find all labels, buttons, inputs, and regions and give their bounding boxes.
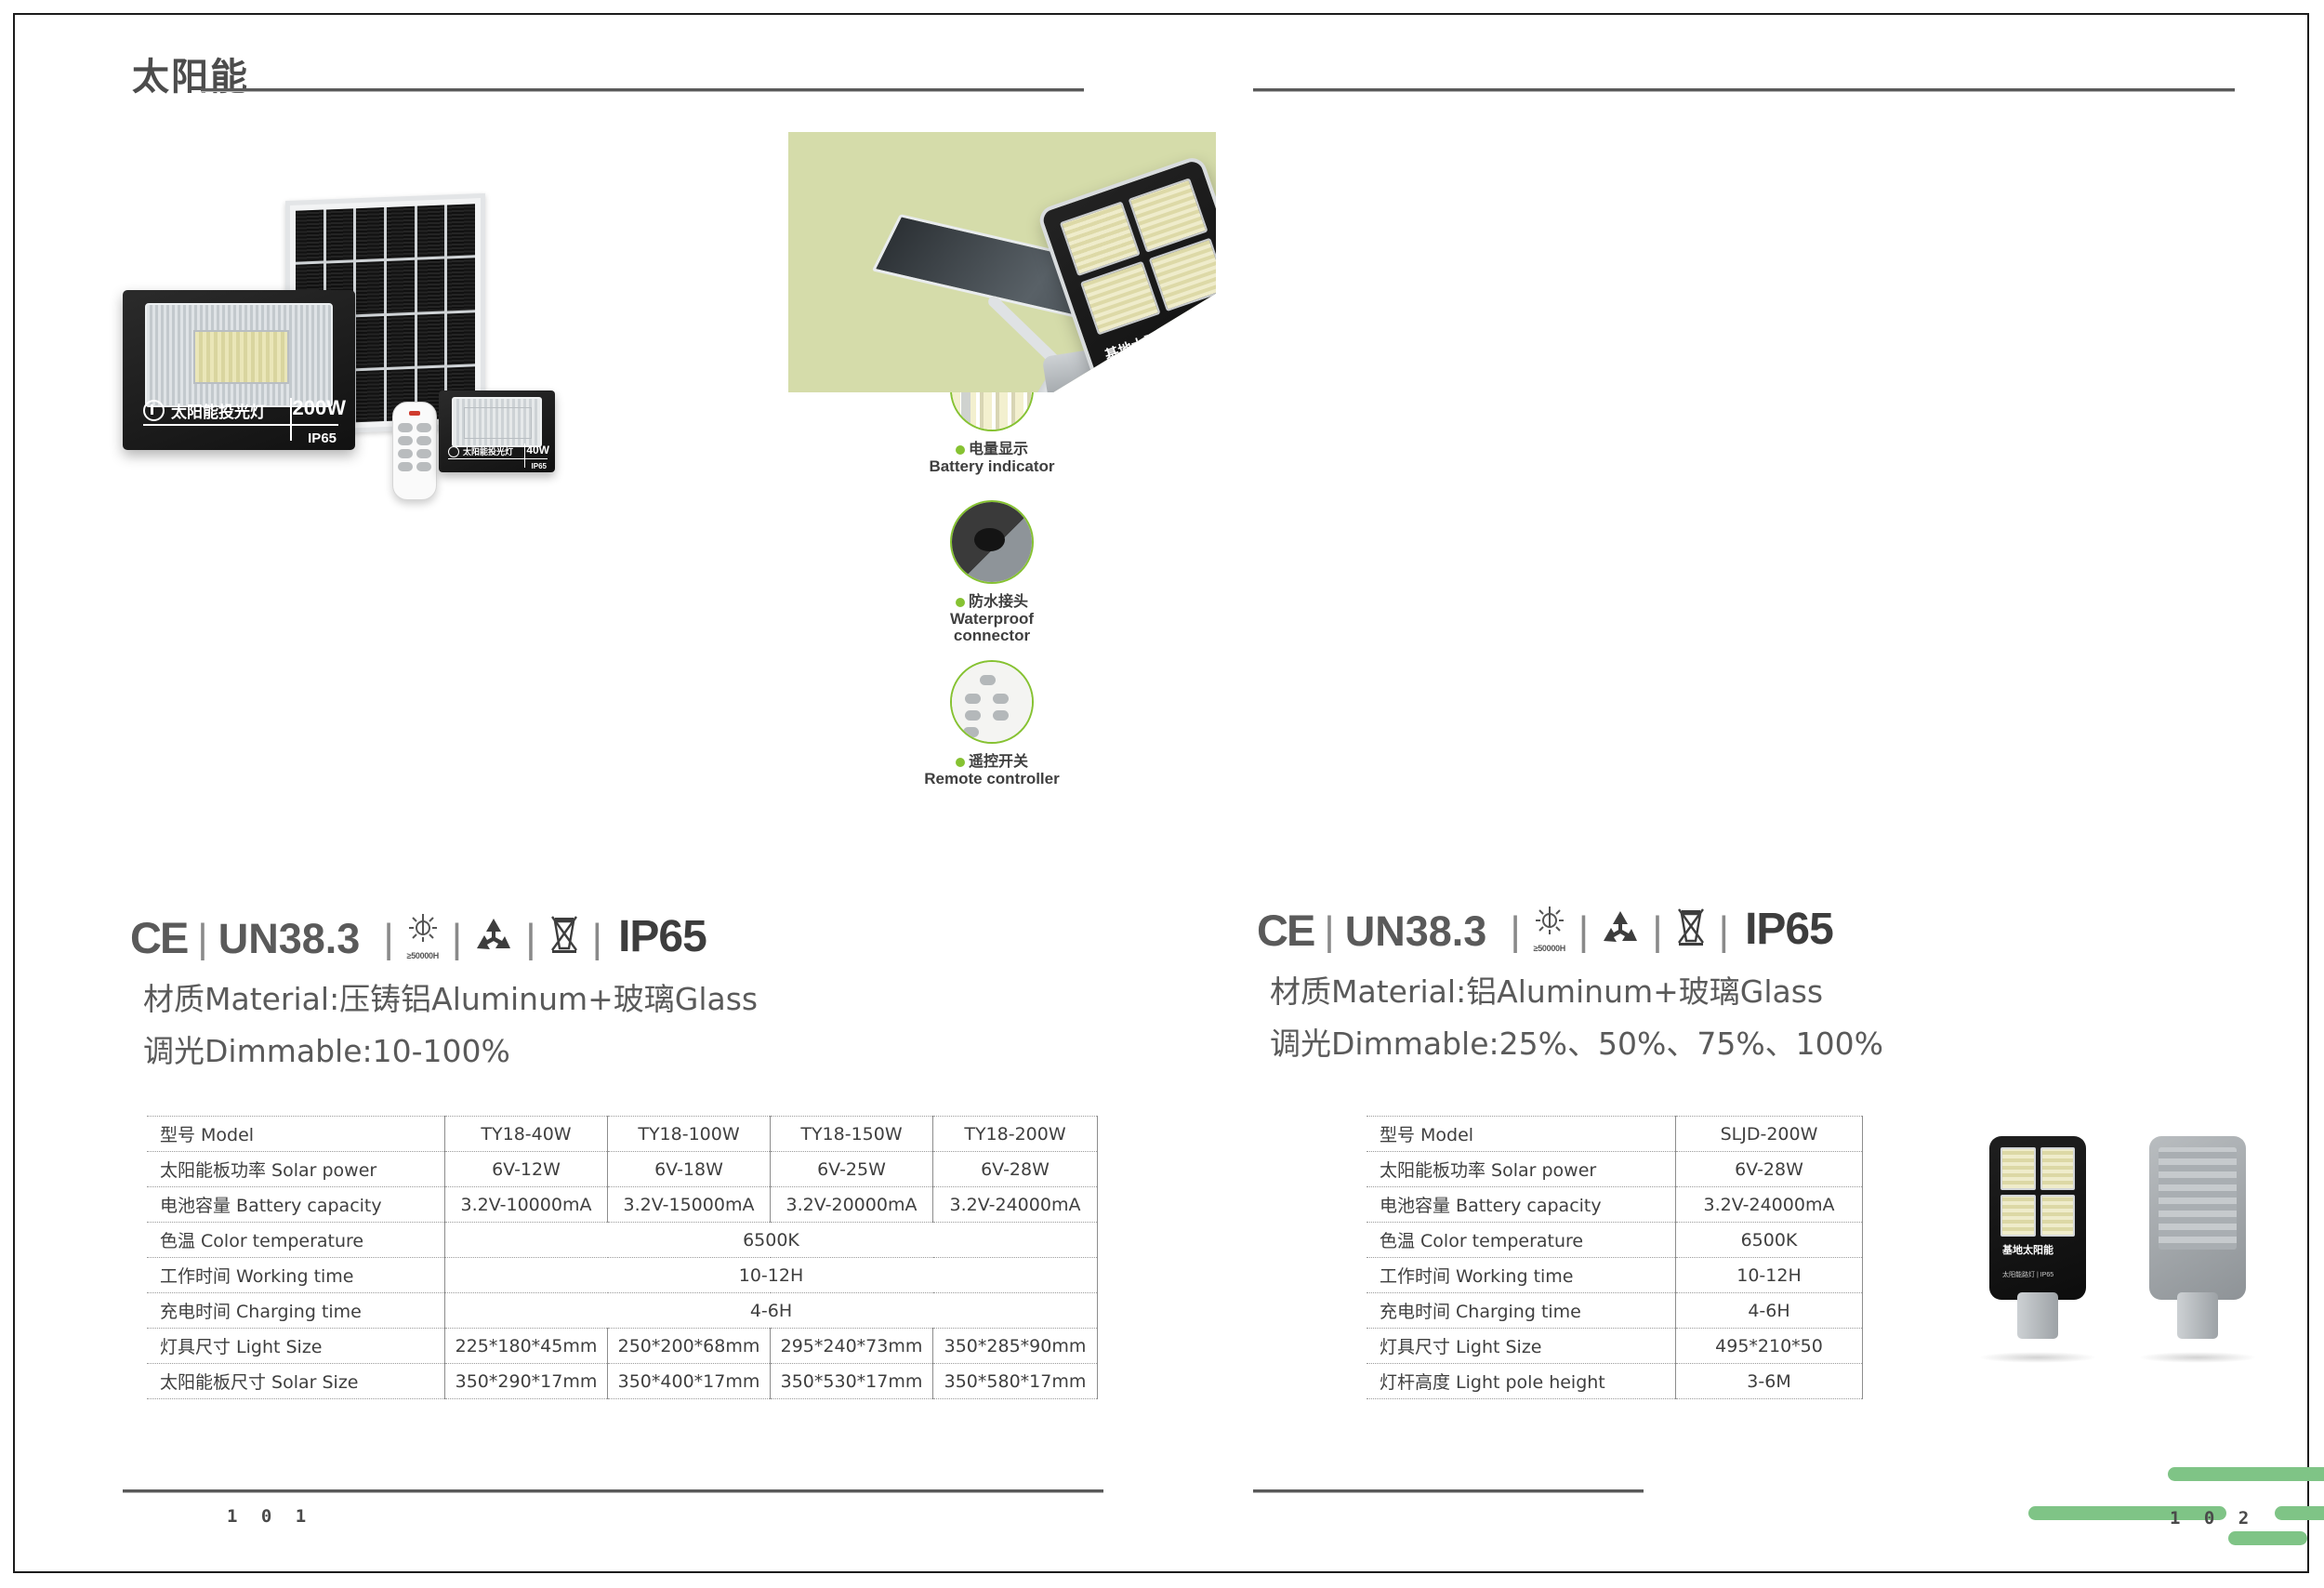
table-row: 型号 Model SLJD-200W [1367, 1117, 1863, 1152]
table-row: 电池容量 Battery capacity 3.2V-10000mA 3.2V-… [147, 1187, 1098, 1223]
row-value: 350*400*17mm [608, 1364, 771, 1399]
left-footer-rule [123, 1489, 1103, 1493]
row-value: 350*580*17mm [933, 1364, 1098, 1399]
feature-remote-controller: 遥控开关 Remote controller [894, 660, 1089, 787]
bullet-icon [956, 445, 965, 455]
row-value: 6V-12W [445, 1152, 608, 1187]
lamp-front-shadow [1978, 1352, 2097, 1363]
row-value: TY18-100W [608, 1117, 771, 1152]
row-label: 工作时间 Working time [1367, 1258, 1676, 1293]
separator: | [197, 919, 207, 959]
page-number-left: 1 0 1 [227, 1506, 312, 1527]
row-value: 3-6M [1676, 1364, 1863, 1399]
feature-caption-en: Remote controller [894, 771, 1089, 787]
table-row: 灯杆高度 Light pole height 3-6M [1367, 1364, 1863, 1399]
right-header-rule [1253, 88, 2235, 92]
table-row: 充电时间 Charging time 4-6H [147, 1293, 1098, 1329]
lifetime-sun-icon: ≥50000H [1531, 906, 1568, 952]
row-label: 太阳能板尺寸 Solar Size [147, 1364, 445, 1399]
table-row: 太阳能板功率 Solar power 6V-28W [1367, 1152, 1863, 1187]
separator: | [592, 919, 602, 959]
remote-led-icon [409, 411, 420, 416]
table-row: 灯具尺寸 Light Size 495*210*50 [1367, 1329, 1863, 1364]
table-row: 色温 Color temperature 6500K [147, 1223, 1098, 1258]
feature-caption-en: Waterproof connector [894, 611, 1089, 644]
row-label: 电池容量 Battery capacity [147, 1187, 445, 1223]
bullet-icon [956, 598, 965, 607]
catalog-spread: 太阳能 太阳能投光灯 200W I [20, 20, 2304, 1568]
left-product-photo: 太阳能投光灯 200W IP65 太阳能投光灯 40W [123, 179, 829, 532]
row-value: 4-6H [445, 1293, 1098, 1329]
lamp-neck-front [2017, 1292, 2058, 1339]
table-row: 充电时间 Charging time 4-6H [1367, 1293, 1863, 1329]
row-value: 6500K [445, 1223, 1098, 1258]
led-modules-front [2000, 1147, 2075, 1237]
table-row: 电池容量 Battery capacity 3.2V-24000mA [1367, 1187, 1863, 1223]
lamp-front-body: 基地太阳能 太阳能路灯 | IP65 [1989, 1136, 2086, 1300]
ce-mark-icon: CE [1257, 908, 1314, 952]
row-value: 3.2V-15000mA [608, 1187, 771, 1223]
feature-caption-cn: 防水接头 [894, 589, 1089, 611]
deco-bar [2228, 1531, 2307, 1545]
right-spec-table-body: 型号 Model SLJD-200W 太阳能板功率 Solar power 6V… [1367, 1117, 1863, 1399]
row-value: 6V-28W [1676, 1152, 1863, 1187]
left-material-line: 材质Material:压铸铝Aluminum+玻璃Glass [143, 974, 758, 1019]
brand-logo-icon-small [448, 446, 459, 457]
right-certification-row: CE | UN38.3 | ≥50000H | [1257, 906, 1833, 952]
recycle-icon [472, 913, 515, 959]
row-label: 灯具尺寸 Light Size [1367, 1329, 1676, 1364]
right-spec-table: 型号 Model SLJD-200W 太阳能板功率 Solar power 6V… [1367, 1116, 1863, 1399]
lamp-front-view: 基地太阳能 太阳能路灯 | IP65 [1989, 1136, 2086, 1300]
flood-light-200w-image: 太阳能投光灯 200W IP65 [123, 290, 355, 450]
ip-rating-label: IP65 [618, 915, 706, 959]
table-row: 型号 Model TY18-40W TY18-100W TY18-150W TY… [147, 1117, 1098, 1152]
led-modules [1060, 178, 1229, 335]
table-row: 灯具尺寸 Light Size 225*180*45mm 250*200*68m… [147, 1329, 1098, 1364]
row-value: 3.2V-10000mA [445, 1187, 608, 1223]
row-value: 295*240*73mm [771, 1329, 933, 1364]
feature-caption-cn: 遥控开关 [894, 748, 1089, 771]
ip-label: IP65 [308, 430, 337, 446]
lamp-sub-label: 太阳能路灯 | IP65 [2002, 1270, 2053, 1279]
right-footer-rule [1253, 1489, 1644, 1493]
brand-divider-h [143, 424, 338, 426]
feature-caption-cn: 电量显示 [894, 436, 1089, 458]
brand-logo-icon [143, 400, 165, 421]
left-dimmable-line: 调光Dimmable:10-100% [143, 1026, 510, 1071]
lifetime-sun-icon: ≥50000H [404, 913, 442, 959]
hero-sub-label: 太阳能路灯 | IP65 [1113, 357, 1179, 390]
row-value: 3.2V-20000mA [771, 1187, 933, 1223]
row-value: 350*290*17mm [445, 1364, 608, 1399]
page-title: 太阳能 [132, 46, 249, 100]
separator: | [525, 919, 535, 959]
street-light-photo: 基地太阳能 太阳能路灯 | IP65 [788, 132, 1216, 392]
ip-rating-label: IP65 [1745, 907, 1833, 952]
row-label: 色温 Color temperature [1367, 1223, 1676, 1258]
row-label: 太阳能板功率 Solar power [1367, 1152, 1676, 1187]
row-label: 灯具尺寸 Light Size [147, 1329, 445, 1364]
row-label: 太阳能板功率 Solar power [147, 1152, 445, 1187]
remote-keypad [398, 423, 431, 471]
lamp-back-shadow [2138, 1352, 2257, 1363]
right-dimmable-line: 调光Dimmable:25%、50%、75%、100% [1270, 1019, 1883, 1064]
recycle-icon [1599, 906, 1642, 952]
heat-sink-fins [2159, 1147, 2237, 1250]
waterproof-connector-photo [950, 500, 1034, 584]
table-row: 太阳能板功率 Solar power 6V-12W 6V-18W 6V-25W … [147, 1152, 1098, 1187]
row-value: SLJD-200W [1676, 1117, 1863, 1152]
row-value: 225*180*45mm [445, 1329, 608, 1364]
row-label: 充电时间 Charging time [147, 1293, 445, 1329]
lamp-back-body [2149, 1136, 2246, 1300]
row-value: 3.2V-24000mA [1676, 1187, 1863, 1223]
ip-label-small: IP65 [532, 462, 547, 470]
row-label: 型号 Model [1367, 1117, 1676, 1152]
brand-label-row-small: 太阳能投光灯 [448, 445, 513, 457]
separator: | [1578, 911, 1589, 952]
weee-crossed-bin-icon [547, 913, 582, 959]
table-row: 色温 Color temperature 6500K [1367, 1223, 1863, 1258]
row-label: 灯杆高度 Light pole height [1367, 1364, 1676, 1399]
un383-label: UN38.3 [218, 918, 361, 959]
row-value: TY18-200W [933, 1117, 1098, 1152]
row-value: 6V-18W [608, 1152, 771, 1187]
ce-mark-icon: CE [130, 916, 187, 959]
lifetime-hours-label: ≥50000H [404, 951, 442, 960]
row-value: 10-12H [445, 1258, 1098, 1293]
row-value: 350*285*90mm [933, 1329, 1098, 1364]
left-spec-table: 型号 Model TY18-40W TY18-100W TY18-150W TY… [147, 1116, 1098, 1399]
left-certification-row: CE | UN38.3 | ≥50000H | [130, 913, 706, 959]
row-value: TY18-150W [771, 1117, 933, 1152]
lifetime-hours-label: ≥50000H [1531, 944, 1568, 953]
led-lens-small [452, 397, 542, 447]
flood-light-40w-image: 太阳能投光灯 40W IP65 [439, 390, 555, 472]
table-row: 工作时间 Working time 10-12H [1367, 1258, 1863, 1293]
lamp-back-view [2149, 1136, 2246, 1300]
weee-crossed-bin-icon [1673, 906, 1709, 952]
row-label: 电池容量 Battery capacity [1367, 1187, 1676, 1223]
lamp-brand-label: 基地太阳能 [2002, 1242, 2053, 1257]
hero-background-shape: 基地太阳能 太阳能路灯 | IP65 [788, 132, 1216, 392]
row-label: 工作时间 Working time [147, 1258, 445, 1293]
separator: | [1510, 911, 1520, 952]
row-label: 型号 Model [147, 1117, 445, 1152]
row-label: 充电时间 Charging time [1367, 1293, 1676, 1329]
deco-bar [2168, 1467, 2324, 1481]
separator: | [1652, 911, 1662, 952]
brand-divider-v-small [524, 443, 525, 468]
row-value: 350*530*17mm [771, 1364, 933, 1399]
wattage-label-small: 40W [526, 443, 549, 457]
wattage-label: 200W [293, 396, 346, 420]
separator: | [1324, 911, 1334, 952]
separator: | [452, 919, 462, 959]
row-value: 3.2V-24000mA [933, 1187, 1098, 1223]
separator: | [383, 919, 393, 959]
brand-text: 太阳能投光灯 [171, 399, 266, 422]
bullet-icon [956, 758, 965, 767]
row-label: 色温 Color temperature [147, 1223, 445, 1258]
right-material-line: 材质Material:铝Aluminum+玻璃Glass [1270, 967, 1823, 1012]
row-value: 495*210*50 [1676, 1329, 1863, 1364]
table-row: 太阳能板尺寸 Solar Size 350*290*17mm 350*400*1… [147, 1364, 1098, 1399]
page-number-right: 1 0 2 [2170, 1508, 2255, 1528]
row-value: 6500K [1676, 1223, 1863, 1258]
row-value: 6V-25W [771, 1152, 933, 1187]
feature-waterproof-connector: 防水接头 Waterproof connector [894, 500, 1089, 644]
row-value: 6V-28W [933, 1152, 1098, 1187]
remote-controller-image [392, 402, 437, 500]
separator: | [1719, 911, 1729, 952]
row-value: 10-12H [1676, 1258, 1863, 1293]
row-value: TY18-40W [445, 1117, 608, 1152]
remote-controller-photo [950, 660, 1034, 744]
deco-bar [2275, 1506, 2324, 1520]
row-value: 250*200*68mm [608, 1329, 771, 1364]
left-spec-table-body: 型号 Model TY18-40W TY18-100W TY18-150W TY… [147, 1117, 1098, 1399]
led-lens [145, 303, 333, 407]
feature-caption-en: Battery indicator [894, 458, 1089, 475]
brand-text-small: 太阳能投光灯 [463, 445, 513, 457]
table-row: 工作时间 Working time 10-12H [147, 1258, 1098, 1293]
left-header-rule [201, 88, 1084, 92]
un383-label: UN38.3 [1345, 910, 1487, 952]
brand-divider-h-small [448, 458, 548, 459]
lamp-neck-back [2177, 1292, 2218, 1339]
row-value: 4-6H [1676, 1293, 1863, 1329]
